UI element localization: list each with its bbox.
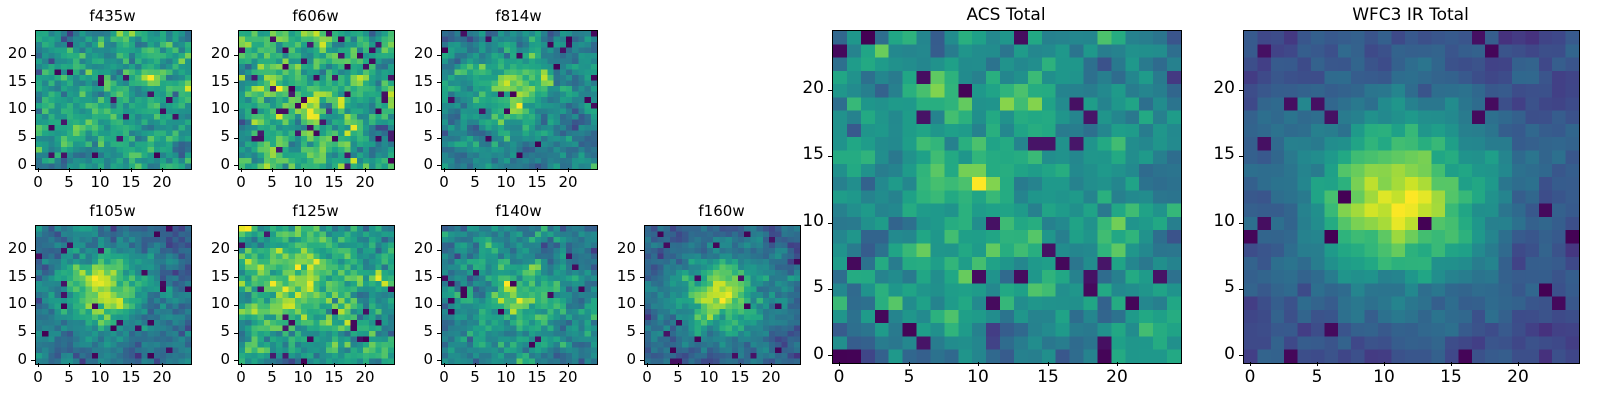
yticklabel-f606w-20: 20 — [190, 46, 230, 61]
panel-f140w: f140w0510152005101520 — [441, 225, 596, 363]
ytick-f140w-0 — [437, 360, 441, 361]
yticklabel-f105w-10: 10 — [0, 296, 27, 311]
ytick-f125w-5 — [234, 333, 238, 334]
xtick-f105w-10 — [100, 363, 101, 367]
xticklabel-f125w-20: 20 — [345, 370, 385, 385]
ytick-f606w-10 — [234, 110, 238, 111]
ytick-f814w-5 — [437, 138, 441, 139]
xtick-f606w-15 — [334, 168, 335, 172]
yticklabel-f814w-15: 15 — [393, 74, 433, 89]
yticklabel-f814w-20: 20 — [393, 46, 433, 61]
xtick-f140w-0 — [444, 363, 445, 367]
yticklabel-f435w-10: 10 — [0, 101, 27, 116]
yticklabel-f125w-5: 5 — [190, 324, 230, 339]
ytick-f160w-15 — [640, 277, 644, 278]
yticklabel-f125w-15: 15 — [190, 269, 230, 284]
ytick-f125w-20 — [234, 250, 238, 251]
yticklabel-f814w-0: 0 — [393, 157, 433, 172]
yticklabel-f606w-15: 15 — [190, 74, 230, 89]
xticklabel-f606w-20: 20 — [345, 175, 385, 190]
panel-title-f105w: f105w — [35, 204, 190, 219]
ytick-f125w-10 — [234, 305, 238, 306]
heatmap-image-wfc3_ir_total — [1244, 31, 1579, 363]
xtick-f140w-15 — [537, 363, 538, 367]
xtick-f105w-5 — [69, 363, 70, 367]
xtick-f606w-5 — [272, 168, 273, 172]
xtick-f435w-10 — [100, 168, 101, 172]
xticklabel-f435w-20: 20 — [142, 175, 182, 190]
heatmap-image-f160w — [645, 226, 800, 364]
yticklabel-wfc3_ir_total-0: 0 — [1195, 346, 1235, 363]
xtick-wfc3_ir_total-20 — [1518, 362, 1519, 366]
yticklabel-f160w-10: 10 — [596, 296, 636, 311]
panel-title-f606w: f606w — [238, 9, 393, 24]
heatmap-axes-f125w — [238, 225, 395, 365]
ytick-f435w-20 — [31, 55, 35, 56]
ytick-f160w-20 — [640, 250, 644, 251]
ytick-acs_total-10 — [828, 223, 832, 224]
xtick-acs_total-0 — [839, 362, 840, 366]
ytick-f160w-0 — [640, 360, 644, 361]
yticklabel-wfc3_ir_total-20: 20 — [1195, 80, 1235, 97]
yticklabel-wfc3_ir_total-5: 5 — [1195, 279, 1235, 296]
xticklabel-wfc3_ir_total-5: 5 — [1297, 369, 1337, 386]
heatmap-axes-wfc3_ir_total — [1243, 30, 1580, 364]
yticklabel-f160w-15: 15 — [596, 269, 636, 284]
ytick-f814w-0 — [437, 165, 441, 166]
yticklabel-f125w-10: 10 — [190, 296, 230, 311]
yticklabel-f814w-5: 5 — [393, 129, 433, 144]
yticklabel-acs_total-20: 20 — [784, 80, 824, 97]
heatmap-image-f140w — [442, 226, 597, 364]
xtick-f140w-10 — [506, 363, 507, 367]
xticklabel-acs_total-15: 15 — [1028, 369, 1068, 386]
ytick-f606w-20 — [234, 55, 238, 56]
ytick-acs_total-15 — [828, 156, 832, 157]
yticklabel-f160w-5: 5 — [596, 324, 636, 339]
ytick-f606w-0 — [234, 165, 238, 166]
xtick-f160w-10 — [709, 363, 710, 367]
xticklabel-f814w-20: 20 — [548, 175, 588, 190]
panel-f105w: f105w0510152005101520 — [35, 225, 190, 363]
ytick-acs_total-0 — [828, 355, 832, 356]
panel-title-f140w: f140w — [441, 204, 596, 219]
yticklabel-f105w-5: 5 — [0, 324, 27, 339]
ytick-f435w-5 — [31, 138, 35, 139]
ytick-f160w-10 — [640, 305, 644, 306]
ytick-f435w-0 — [31, 165, 35, 166]
panel-title-f125w: f125w — [238, 204, 393, 219]
yticklabel-f140w-0: 0 — [393, 352, 433, 367]
xtick-f160w-5 — [678, 363, 679, 367]
ytick-f814w-20 — [437, 55, 441, 56]
panel-title-acs_total: ACS Total — [832, 7, 1180, 24]
heatmap-axes-f160w — [644, 225, 801, 365]
xticklabel-acs_total-0: 0 — [819, 369, 859, 386]
xtick-acs_total-10 — [978, 362, 979, 366]
ytick-f105w-10 — [31, 305, 35, 306]
yticklabel-f140w-15: 15 — [393, 269, 433, 284]
xtick-wfc3_ir_total-10 — [1384, 362, 1385, 366]
xtick-f814w-0 — [444, 168, 445, 172]
ytick-f125w-15 — [234, 277, 238, 278]
xtick-f125w-15 — [334, 363, 335, 367]
heatmap-axes-f814w — [441, 30, 598, 170]
xtick-f140w-20 — [568, 363, 569, 367]
ytick-f105w-15 — [31, 277, 35, 278]
yticklabel-f140w-5: 5 — [393, 324, 433, 339]
heatmap-image-f814w — [442, 31, 597, 169]
heatmap-image-f435w — [36, 31, 191, 169]
ytick-f105w-20 — [31, 250, 35, 251]
yticklabel-f435w-15: 15 — [0, 74, 27, 89]
xtick-f125w-20 — [365, 363, 366, 367]
yticklabel-f606w-5: 5 — [190, 129, 230, 144]
xtick-f105w-15 — [131, 363, 132, 367]
heatmap-axes-f435w — [35, 30, 192, 170]
figure-canvas: f435w0510152005101520f606w05101520051015… — [0, 0, 1600, 400]
yticklabel-f140w-10: 10 — [393, 296, 433, 311]
xtick-f606w-10 — [303, 168, 304, 172]
panel-f814w: f814w0510152005101520 — [441, 30, 596, 168]
heatmap-image-f105w — [36, 226, 191, 364]
yticklabel-f160w-0: 0 — [596, 352, 636, 367]
xticklabel-wfc3_ir_total-10: 10 — [1364, 369, 1404, 386]
yticklabel-f105w-0: 0 — [0, 352, 27, 367]
xticklabel-f160w-20: 20 — [751, 370, 791, 385]
xticklabel-wfc3_ir_total-20: 20 — [1498, 369, 1538, 386]
yticklabel-f105w-20: 20 — [0, 241, 27, 256]
ytick-f160w-5 — [640, 333, 644, 334]
ytick-f814w-10 — [437, 110, 441, 111]
xticklabel-wfc3_ir_total-0: 0 — [1230, 369, 1270, 386]
xtick-f125w-0 — [241, 363, 242, 367]
ytick-acs_total-20 — [828, 90, 832, 91]
xtick-wfc3_ir_total-0 — [1250, 362, 1251, 366]
panel-f435w: f435w0510152005101520 — [35, 30, 190, 168]
yticklabel-f140w-20: 20 — [393, 241, 433, 256]
ytick-f814w-15 — [437, 82, 441, 83]
xtick-f606w-0 — [241, 168, 242, 172]
ytick-f105w-0 — [31, 360, 35, 361]
heatmap-axes-f105w — [35, 225, 192, 365]
xtick-f814w-15 — [537, 168, 538, 172]
ytick-wfc3_ir_total-5 — [1239, 289, 1243, 290]
panel-title-f814w: f814w — [441, 9, 596, 24]
xtick-f105w-0 — [38, 363, 39, 367]
xticklabel-f105w-20: 20 — [142, 370, 182, 385]
xtick-f435w-20 — [162, 168, 163, 172]
ytick-acs_total-5 — [828, 289, 832, 290]
ytick-wfc3_ir_total-10 — [1239, 223, 1243, 224]
xtick-f160w-20 — [771, 363, 772, 367]
ytick-wfc3_ir_total-20 — [1239, 90, 1243, 91]
panel-wfc3_ir_total: WFC3 IR Total0510152005101520 — [1243, 30, 1578, 362]
panel-f125w: f125w0510152005101520 — [238, 225, 393, 363]
xtick-f606w-20 — [365, 168, 366, 172]
heatmap-axes-f606w — [238, 30, 395, 170]
ytick-f140w-10 — [437, 305, 441, 306]
ytick-f435w-15 — [31, 82, 35, 83]
ytick-f140w-15 — [437, 277, 441, 278]
xtick-wfc3_ir_total-5 — [1317, 362, 1318, 366]
ytick-f125w-0 — [234, 360, 238, 361]
xticklabel-acs_total-20: 20 — [1097, 369, 1137, 386]
ytick-f606w-5 — [234, 138, 238, 139]
yticklabel-acs_total-10: 10 — [784, 213, 824, 230]
xtick-f435w-15 — [131, 168, 132, 172]
xtick-f125w-10 — [303, 363, 304, 367]
xtick-f160w-15 — [740, 363, 741, 367]
xticklabel-f140w-20: 20 — [548, 370, 588, 385]
panel-f160w: f160w0510152005101520 — [644, 225, 799, 363]
xtick-f814w-10 — [506, 168, 507, 172]
panel-acs_total: ACS Total0510152005101520 — [832, 30, 1180, 362]
panel-f606w: f606w0510152005101520 — [238, 30, 393, 168]
xtick-acs_total-5 — [909, 362, 910, 366]
yticklabel-acs_total-0: 0 — [784, 346, 824, 363]
panel-title-wfc3_ir_total: WFC3 IR Total — [1243, 7, 1578, 24]
yticklabel-acs_total-15: 15 — [784, 146, 824, 163]
ytick-f105w-5 — [31, 333, 35, 334]
xtick-f435w-5 — [69, 168, 70, 172]
heatmap-axes-f140w — [441, 225, 598, 365]
xtick-f435w-0 — [38, 168, 39, 172]
yticklabel-acs_total-5: 5 — [784, 279, 824, 296]
ytick-f140w-5 — [437, 333, 441, 334]
yticklabel-f814w-10: 10 — [393, 101, 433, 116]
yticklabel-f125w-20: 20 — [190, 241, 230, 256]
yticklabel-f435w-0: 0 — [0, 157, 27, 172]
xtick-f160w-0 — [647, 363, 648, 367]
yticklabel-f435w-20: 20 — [0, 46, 27, 61]
ytick-f140w-20 — [437, 250, 441, 251]
xticklabel-acs_total-5: 5 — [889, 369, 929, 386]
panel-title-f160w: f160w — [644, 204, 799, 219]
xtick-acs_total-20 — [1117, 362, 1118, 366]
xtick-f140w-5 — [475, 363, 476, 367]
yticklabel-f160w-20: 20 — [596, 241, 636, 256]
ytick-wfc3_ir_total-0 — [1239, 355, 1243, 356]
yticklabel-f125w-0: 0 — [190, 352, 230, 367]
yticklabel-wfc3_ir_total-10: 10 — [1195, 213, 1235, 230]
heatmap-axes-acs_total — [832, 30, 1182, 364]
heatmap-image-f125w — [239, 226, 394, 364]
ytick-wfc3_ir_total-15 — [1239, 156, 1243, 157]
xtick-f125w-5 — [272, 363, 273, 367]
xtick-f814w-5 — [475, 168, 476, 172]
yticklabel-f606w-0: 0 — [190, 157, 230, 172]
yticklabel-f606w-10: 10 — [190, 101, 230, 116]
xticklabel-wfc3_ir_total-15: 15 — [1431, 369, 1471, 386]
panel-title-f435w: f435w — [35, 9, 190, 24]
xticklabel-acs_total-10: 10 — [958, 369, 998, 386]
heatmap-image-f606w — [239, 31, 394, 169]
xtick-acs_total-15 — [1048, 362, 1049, 366]
yticklabel-wfc3_ir_total-15: 15 — [1195, 146, 1235, 163]
yticklabel-f105w-15: 15 — [0, 269, 27, 284]
ytick-f435w-10 — [31, 110, 35, 111]
xtick-f105w-20 — [162, 363, 163, 367]
heatmap-image-acs_total — [833, 31, 1181, 363]
xtick-wfc3_ir_total-15 — [1451, 362, 1452, 366]
ytick-f606w-15 — [234, 82, 238, 83]
yticklabel-f435w-5: 5 — [0, 129, 27, 144]
xtick-f814w-20 — [568, 168, 569, 172]
